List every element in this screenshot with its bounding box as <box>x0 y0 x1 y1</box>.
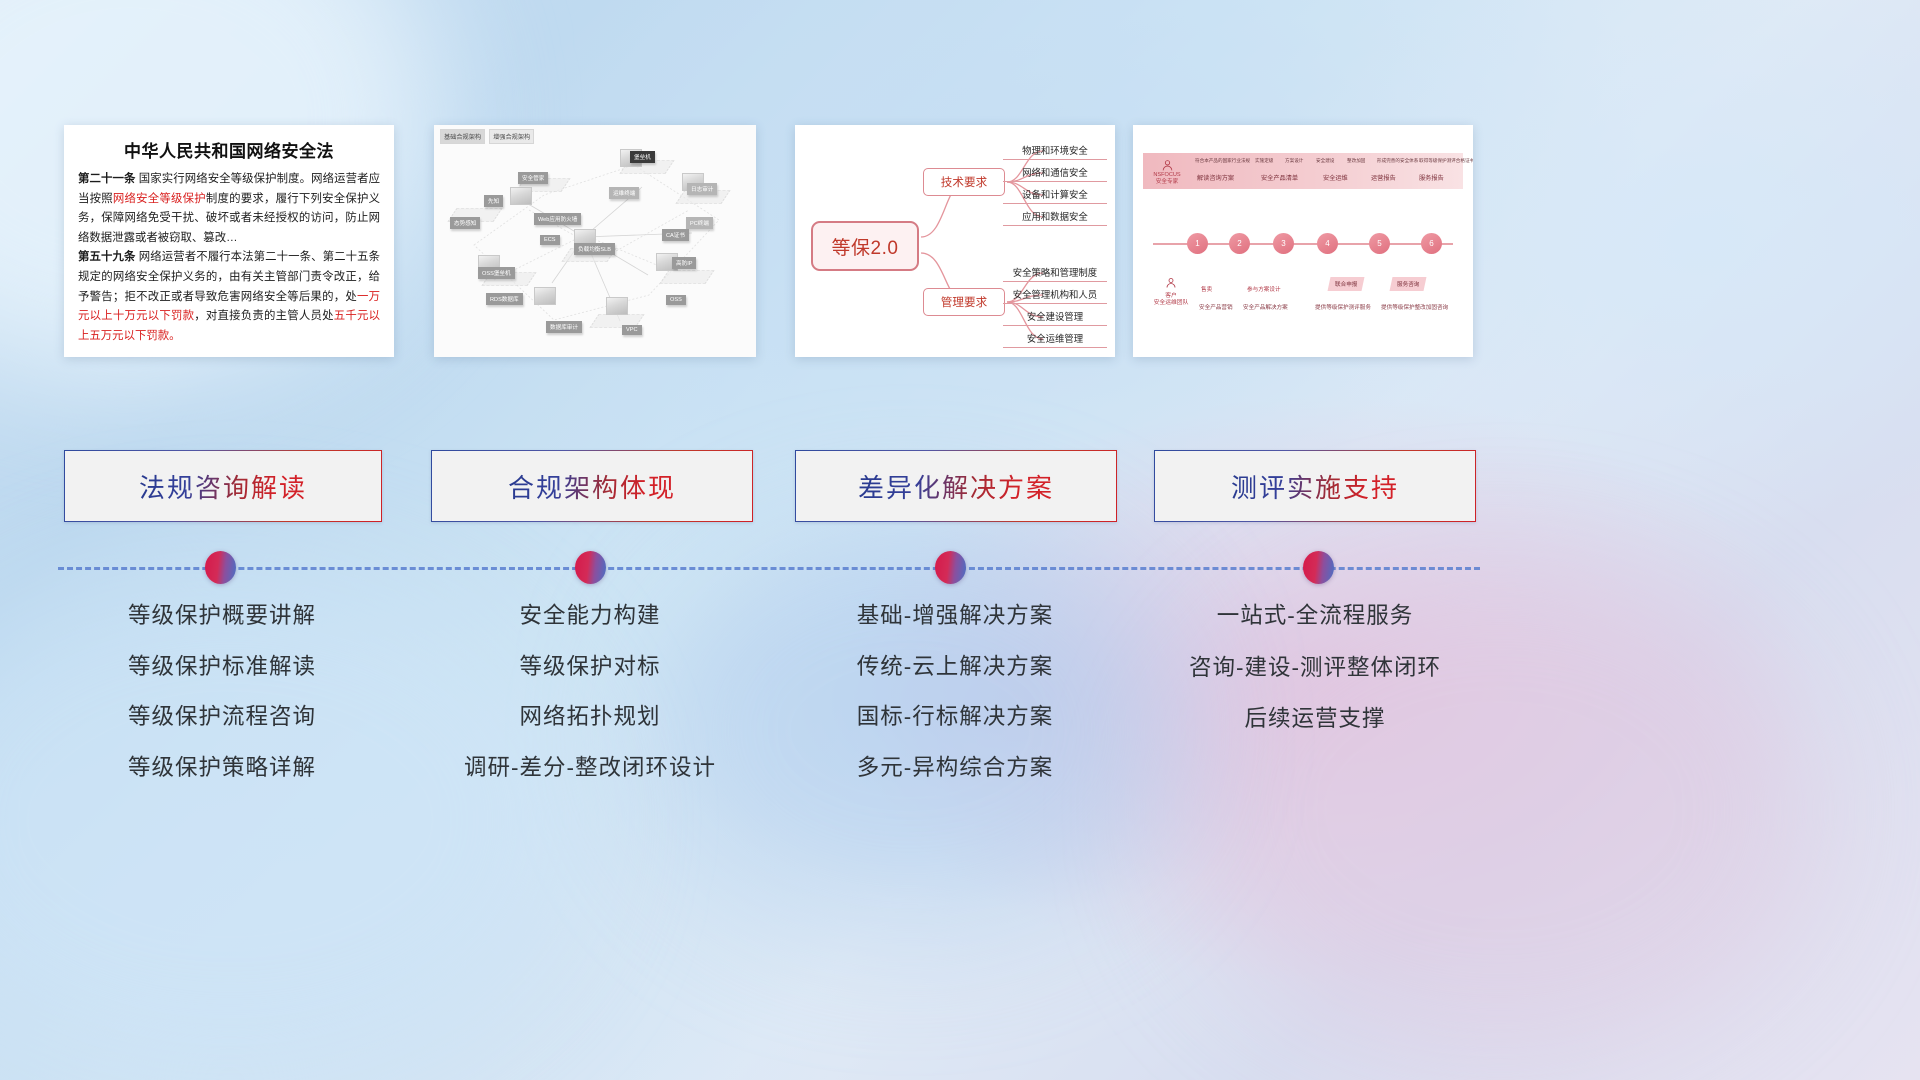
roadmap-chip-1: 联合申报 <box>1328 277 1365 291</box>
arch-node-oss: OSS <box>666 295 686 305</box>
roadmap-service-1: 解读咨询方案 <box>1197 173 1234 182</box>
roadmap-footer-sub-3: 提供等级保护测评服务 <box>1315 303 1371 311</box>
arch-node-slb: 负载均衡SLB <box>574 243 615 255</box>
mindmap-leaf-network-comm: 网络和通信安全 <box>1003 165 1107 182</box>
list-item: 网络拓扑规划 <box>440 706 740 729</box>
card-row: 中华人民共和国网络安全法 第二十一条 国家实行网络安全等级保护制度。网络运营者应… <box>0 125 1920 361</box>
mindmap-leaf-app-data: 应用和数据安全 <box>1003 209 1107 226</box>
roadmap: 符合本产品的国家行业法规 实施定级 方案设计 安全建设 整改加固 形成完善的安全… <box>1133 125 1473 357</box>
roadmap-step-4: 4 <box>1317 233 1338 254</box>
roadmap-step-2: 2 <box>1229 233 1250 254</box>
arch-node-oss-bastion: OSS堡垒机 <box>478 267 515 279</box>
timeline <box>0 545 1920 605</box>
article-59-text-b: ，对直接负责的主管人员处 <box>194 310 333 322</box>
timeline-dashed-line <box>58 567 1480 570</box>
roadmap-band-label-5: 整改加固 <box>1347 158 1365 164</box>
arch-node-waf: Web应用防火墙 <box>534 213 581 225</box>
roadmap-service-2: 安全产品清单 <box>1261 173 1298 182</box>
label-box-compliance-architecture[interactable]: 合规架构体现 <box>431 450 753 522</box>
roadmap-customer: 客户安全运维团队 <box>1147 277 1195 308</box>
arch-cube-7 <box>606 297 628 315</box>
arch-node-ops-terminal: 运维终端 <box>609 187 639 199</box>
mindmap-branch-technical: 技术要求 <box>923 168 1005 196</box>
roadmap-band-label-2: 实施定级 <box>1255 158 1273 164</box>
timeline-dot-3[interactable] <box>935 551 966 584</box>
label-box-4-text: 测评实施支持 <box>1231 468 1399 505</box>
mindmap: 等保2.0 技术要求 管理要求 物理和环境安全 网络和通信安全 设备和计算安全 … <box>795 125 1115 357</box>
list-item: 基础-增强解决方案 <box>800 605 1110 628</box>
roadmap-actor-label: NSFOCUS安全专家 <box>1153 172 1180 186</box>
mindmap-leaf-ops-mgmt: 安全运维管理 <box>1003 331 1107 348</box>
label-box-assessment-support[interactable]: 测评实施支持 <box>1154 450 1476 522</box>
architecture-tabs: 基础合规架构 增强合规架构 <box>440 129 534 144</box>
arch-node-rds: RDS数据库 <box>486 293 523 305</box>
roadmap-band-label-6: 形成完善的安全体系 <box>1377 158 1418 164</box>
list-item: 等级保护流程咨询 <box>72 706 372 729</box>
list-item: 多元-异构综合方案 <box>800 757 1110 780</box>
roadmap-footer-sub-2: 安全产品解决方案 <box>1243 303 1288 311</box>
roadmap-step-6: 6 <box>1421 233 1442 254</box>
roadmap-customer-label: 客户安全运维团队 <box>1147 293 1195 308</box>
mindmap-leaf-org-personnel: 安全管理机构和人员 <box>1003 287 1107 304</box>
roadmap-chip-1-label: 联合申报 <box>1335 280 1357 288</box>
label-box-3-text: 差异化解决方案 <box>858 468 1054 505</box>
law-article-21: 第二十一条 国家实行网络安全等级保护制度。网络运营者应当按照网络安全等级保护制度… <box>78 170 380 248</box>
detail-columns: 等级保护概要讲解 等级保护标准解读 等级保护流程咨询 等级保护策略详解 安全能力… <box>0 605 1920 905</box>
arch-plate-7 <box>660 270 715 283</box>
column-assessment-support: 一站式-全流程服务 咨询-建设-测评整体闭环 后续运营支撑 <box>1160 605 1470 760</box>
roadmap-band-label-4: 安全建设 <box>1316 158 1334 164</box>
card-dengbao-mindmap: 等保2.0 技术要求 管理要求 物理和环境安全 网络和通信安全 设备和计算安全 … <box>795 125 1115 357</box>
card-cybersecurity-law: 中华人民共和国网络安全法 第二十一条 国家实行网络安全等级保护制度。网络运营者应… <box>64 125 394 357</box>
column-compliance-architecture: 安全能力构建 等级保护对标 网络拓扑规划 调研-差分-整改闭环设计 <box>440 605 740 807</box>
roadmap-service-5: 服务报告 <box>1419 173 1444 182</box>
list-item: 后续运营支撑 <box>1160 708 1470 731</box>
roadmap-chip-2: 服务咨询 <box>1390 277 1427 291</box>
roadmap-service-4: 运营报告 <box>1371 173 1396 182</box>
article-59-label: 第五十九条 <box>78 251 135 263</box>
arch-tab-basic[interactable]: 基础合规架构 <box>440 129 485 144</box>
customer-icon <box>1165 277 1177 289</box>
column-regulation-consulting: 等级保护概要讲解 等级保护标准解读 等级保护流程咨询 等级保护策略详解 <box>72 605 372 807</box>
person-icon <box>1161 159 1174 172</box>
law-document: 中华人民共和国网络安全法 第二十一条 国家实行网络安全等级保护制度。网络运营者应… <box>64 125 394 354</box>
article-21-label: 第二十一条 <box>78 173 135 185</box>
mindmap-leaf-device-compute: 设备和计算安全 <box>1003 187 1107 204</box>
arch-node-anti-ddos-ip: 高防IP <box>672 257 696 269</box>
roadmap-step-5: 5 <box>1369 233 1390 254</box>
roadmap-footer-2: 参与方案设计 <box>1247 285 1281 293</box>
roadmap-actor-nsfocus: NSFOCUS安全专家 <box>1145 155 1189 189</box>
architecture-diagram: 基础合规架构 增强合规架构 <box>434 125 756 357</box>
list-item: 等级保护对标 <box>440 656 740 679</box>
roadmap-footer-sub-1: 安全产品营销 <box>1199 303 1233 311</box>
arch-node-security-butler: 安全管家 <box>518 172 548 184</box>
list-item: 一站式-全流程服务 <box>1160 605 1470 628</box>
roadmap-band-label-7: 取得等级保护测评合格证书 <box>1419 158 1473 164</box>
label-box-1-text: 法规咨询解读 <box>139 468 307 505</box>
law-article-59: 第五十九条 网络运营者不履行本法第二十一条、第二十五条规定的网络安全保护义务的，… <box>78 248 380 346</box>
column-differentiated-solution: 基础-增强解决方案 传统-云上解决方案 国标-行标解决方案 多元-异构综合方案 <box>800 605 1110 807</box>
arch-node-ecs: ECS <box>540 235 560 245</box>
arch-node-pc-terminal: PC终端 <box>686 217 713 229</box>
arch-tab-enhanced[interactable]: 增强合规架构 <box>489 129 534 144</box>
roadmap-service-3: 安全运维 <box>1323 173 1348 182</box>
list-item: 国标-行标解决方案 <box>800 706 1110 729</box>
arch-node-vpc: VPC <box>622 325 642 335</box>
article-21-highlight: 网络安全等级保护 <box>113 193 206 205</box>
mindmap-leaf-build-mgmt: 安全建设管理 <box>1003 309 1107 326</box>
card-service-roadmap: 符合本产品的国家行业法规 实施定级 方案设计 安全建设 整改加固 形成完善的安全… <box>1133 125 1473 357</box>
roadmap-footer-1: 售卖 <box>1201 285 1212 293</box>
label-box-differentiated-solution[interactable]: 差异化解决方案 <box>795 450 1117 522</box>
list-item: 安全能力构建 <box>440 605 740 628</box>
roadmap-step-3: 3 <box>1273 233 1294 254</box>
mindmap-leaf-policy-system: 安全策略和管理制度 <box>1003 265 1107 282</box>
mindmap-root: 等保2.0 <box>811 221 919 271</box>
roadmap-step-1: 1 <box>1187 233 1208 254</box>
label-box-row: 法规咨询解读 合规架构体现 差异化解决方案 测评实施支持 <box>0 450 1920 522</box>
label-box-2-text: 合规架构体现 <box>508 468 676 505</box>
arch-cube-8 <box>534 287 556 305</box>
timeline-dot-1[interactable] <box>205 551 236 584</box>
list-item: 等级保护策略详解 <box>72 757 372 780</box>
mindmap-branch-management: 管理要求 <box>923 288 1005 316</box>
arch-node-db-audit: 数据库审计 <box>546 321 582 333</box>
timeline-dot-4[interactable] <box>1303 551 1334 584</box>
list-item: 传统-云上解决方案 <box>800 656 1110 679</box>
list-item: 等级保护标准解读 <box>72 656 372 679</box>
list-item: 等级保护概要讲解 <box>72 605 372 628</box>
arch-node-situational-awareness: 态势感知 <box>450 217 480 229</box>
timeline-dot-2[interactable] <box>575 551 606 584</box>
roadmap-chip-2-label: 服务咨询 <box>1397 280 1419 288</box>
arch-node-ca-cert: CA证书 <box>662 229 689 241</box>
label-box-regulation-consulting[interactable]: 法规咨询解读 <box>64 450 382 522</box>
roadmap-footer-sub-4: 提供等级保护整改加固咨询 <box>1381 303 1448 311</box>
card-compliance-architecture: 基础合规架构 增强合规架构 <box>434 125 756 357</box>
arch-node-log-audit: 日志审计 <box>687 183 717 195</box>
roadmap-band-label-1: 符合本产品的国家行业法规 <box>1195 158 1250 164</box>
arch-node-xianzhi: 先知 <box>484 195 503 207</box>
mindmap-leaf-physical-env: 物理和环境安全 <box>1003 143 1107 160</box>
list-item: 调研-差分-整改闭环设计 <box>440 757 740 780</box>
law-title: 中华人民共和国网络安全法 <box>78 137 380 162</box>
arch-cube-1 <box>510 187 532 205</box>
list-item: 咨询-建设-测评整体闭环 <box>1160 657 1470 680</box>
arch-node-bastion-host: 堡垒机 <box>630 151 655 163</box>
roadmap-band-label-3: 方案设计 <box>1285 158 1303 164</box>
